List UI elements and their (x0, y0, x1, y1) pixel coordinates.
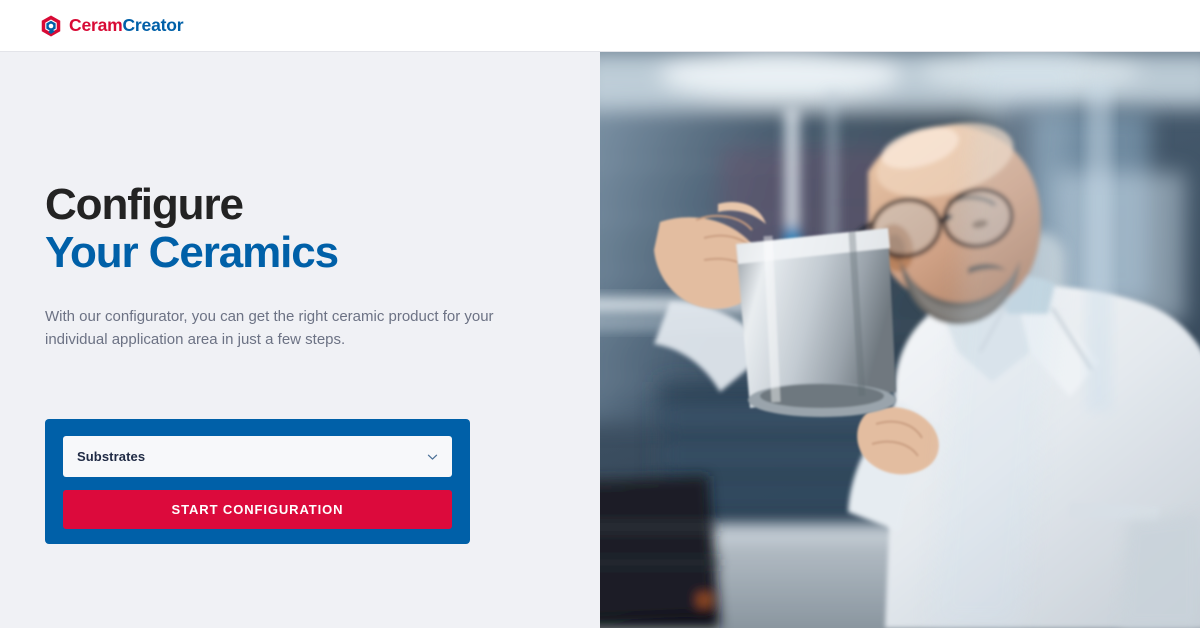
brand-wordmark: CeramCreator (69, 17, 183, 35)
hero-content: Configure Your Ceramics With our configu… (45, 182, 565, 352)
headline-line-2: Your Ceramics (45, 230, 565, 276)
brand-wordmark-part2: Creator (122, 15, 183, 35)
brand-wordmark-part1: Ceram (69, 15, 122, 35)
page-title: Configure Your Ceramics (45, 182, 565, 276)
hero-left-panel: Configure Your Ceramics With our configu… (0, 52, 600, 628)
brand-logo[interactable]: CeramCreator (40, 15, 183, 37)
hero-subtext: With our configurator, you can get the r… (45, 306, 560, 352)
start-configuration-button[interactable]: START CONFIGURATION (63, 490, 452, 529)
landing-page: CeramCreator Configure Your Ceramics Wit… (0, 0, 1200, 628)
site-header: CeramCreator (0, 0, 1200, 52)
hexagon-logo-icon (40, 15, 62, 37)
configurator-card: Substrates START CONFIGURATION (45, 419, 470, 544)
hero-photo (600, 52, 1200, 628)
lab-engineer-photo (600, 52, 1200, 628)
headline-line-1: Configure (45, 182, 565, 228)
product-category-select[interactable]: Substrates (63, 436, 452, 477)
chevron-down-icon (426, 450, 439, 463)
product-category-value: Substrates (77, 449, 145, 464)
